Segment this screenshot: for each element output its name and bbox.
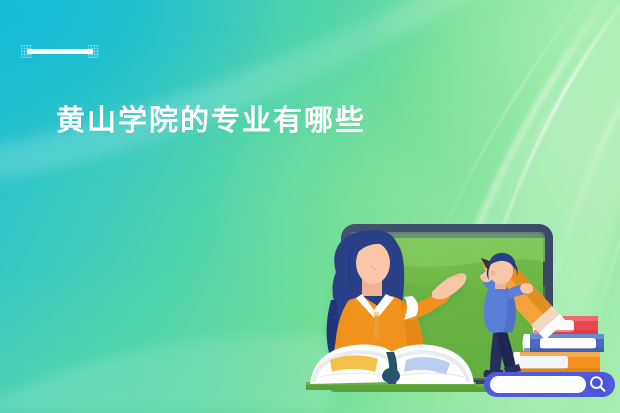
search-icon[interactable] bbox=[587, 374, 609, 396]
banner: 黄山学院的专业有哪些 bbox=[0, 0, 620, 413]
classroom-study-illustration bbox=[0, 0, 620, 413]
book-blue bbox=[523, 334, 605, 352]
search-input[interactable] bbox=[490, 376, 586, 393]
search-bar[interactable] bbox=[484, 372, 615, 397]
book-orange bbox=[513, 352, 601, 372]
